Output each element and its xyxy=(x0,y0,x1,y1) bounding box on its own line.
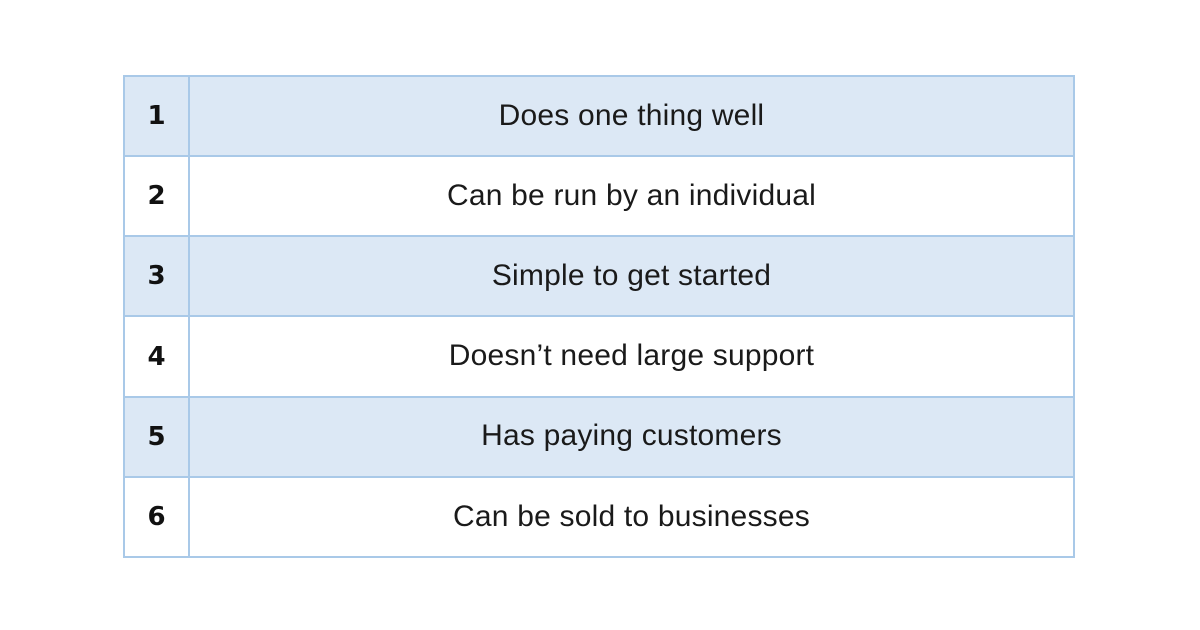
row-number: 3 xyxy=(125,263,188,289)
row-label-cell: Simple to get started xyxy=(189,236,1074,316)
table-row: 4 Doesn’t need large support xyxy=(124,316,1074,396)
row-number: 5 xyxy=(125,424,188,450)
row-label: Does one thing well xyxy=(190,99,1073,134)
page-canvas: 1 Does one thing well 2 Can be run by an… xyxy=(0,0,1200,630)
table-row: 2 Can be run by an individual xyxy=(124,156,1074,236)
row-number-cell: 5 xyxy=(124,397,189,477)
row-label-cell: Does one thing well xyxy=(189,76,1074,156)
row-label: Simple to get started xyxy=(190,259,1073,294)
criteria-table-body: 1 Does one thing well 2 Can be run by an… xyxy=(124,76,1074,557)
row-label: Can be sold to businesses xyxy=(190,500,1073,535)
criteria-table: 1 Does one thing well 2 Can be run by an… xyxy=(123,75,1075,558)
row-label: Doesn’t need large support xyxy=(190,339,1073,374)
table-row: 5 Has paying customers xyxy=(124,397,1074,477)
row-number-cell: 2 xyxy=(124,156,189,236)
table-row: 3 Simple to get started xyxy=(124,236,1074,316)
row-number: 6 xyxy=(125,504,188,530)
row-number: 1 xyxy=(125,103,188,129)
row-label: Can be run by an individual xyxy=(190,179,1073,214)
row-label-cell: Can be sold to businesses xyxy=(189,477,1074,557)
row-label-cell: Doesn’t need large support xyxy=(189,316,1074,396)
row-label: Has paying customers xyxy=(190,419,1073,454)
row-number-cell: 6 xyxy=(124,477,189,557)
row-number-cell: 3 xyxy=(124,236,189,316)
row-number: 4 xyxy=(125,344,188,370)
row-label-cell: Has paying customers xyxy=(189,397,1074,477)
row-number-cell: 4 xyxy=(124,316,189,396)
row-number-cell: 1 xyxy=(124,76,189,156)
table-row: 6 Can be sold to businesses xyxy=(124,477,1074,557)
row-label-cell: Can be run by an individual xyxy=(189,156,1074,236)
table-row: 1 Does one thing well xyxy=(124,76,1074,156)
row-number: 2 xyxy=(125,183,188,209)
